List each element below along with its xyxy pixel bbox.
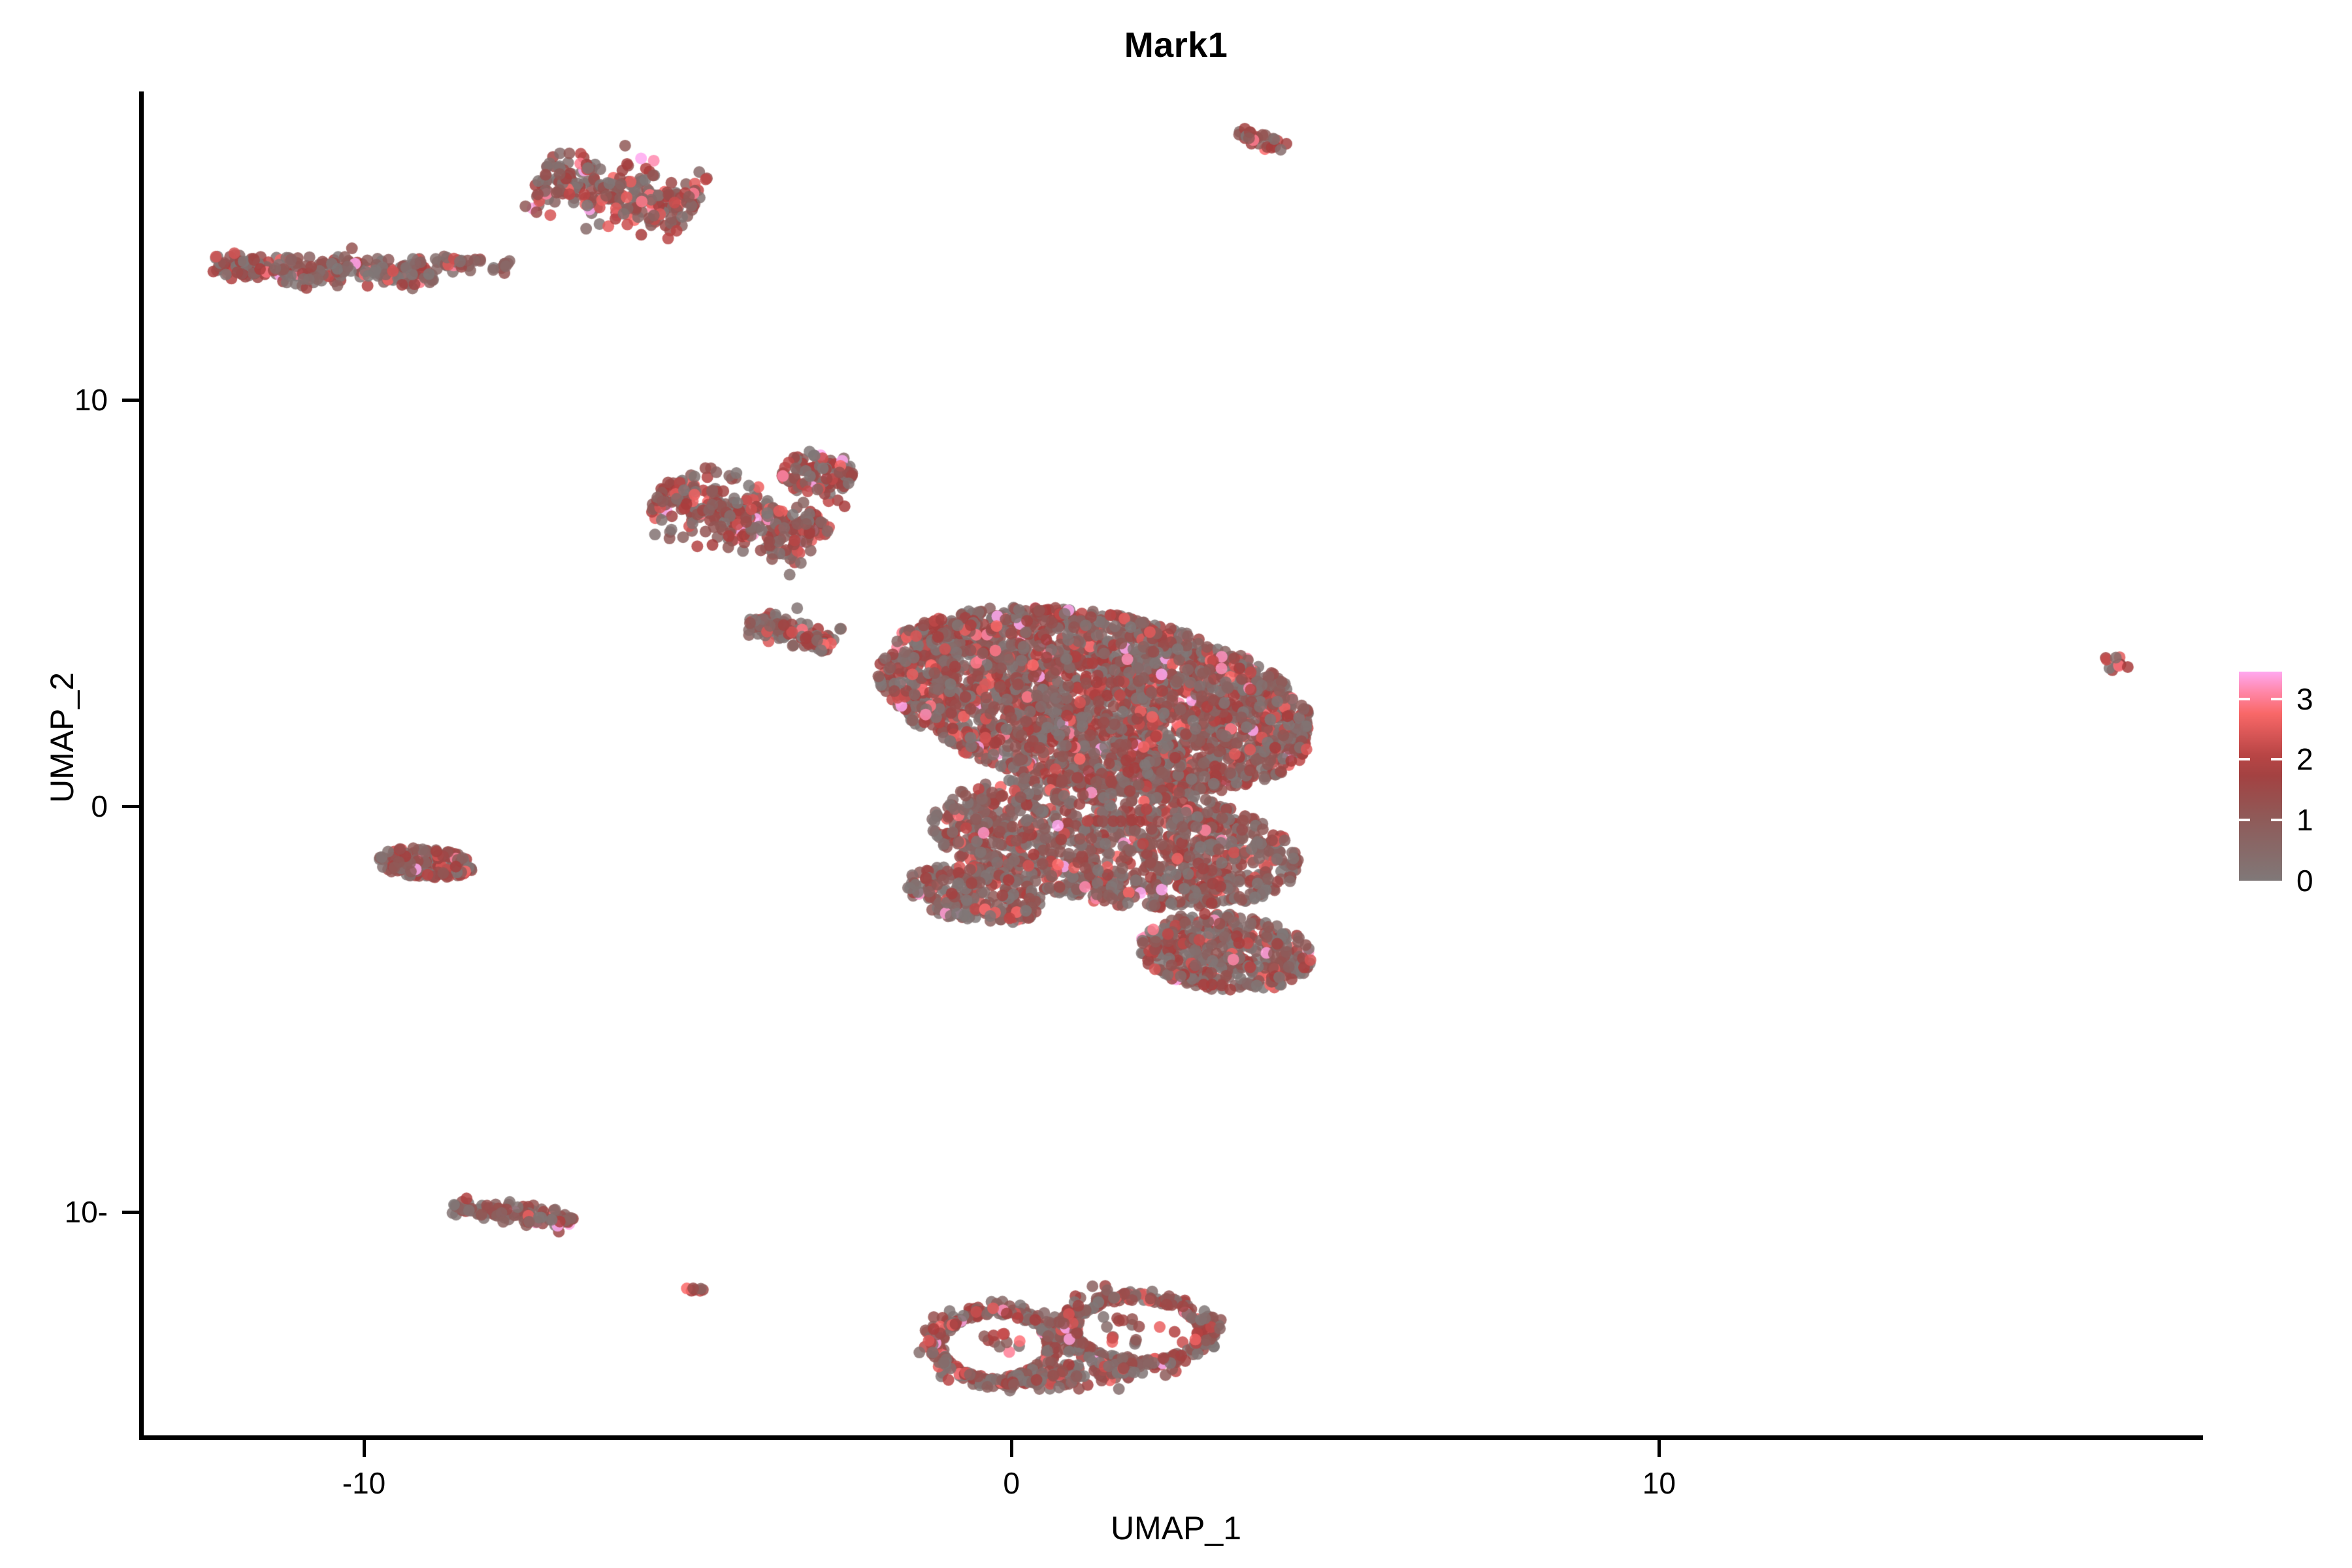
y-tick-mark [122, 1211, 139, 1214]
legend-tick-label: 3 [2296, 681, 2313, 717]
x-axis-label: UMAP_1 [0, 1509, 2352, 1547]
legend-tick-mark [2239, 758, 2250, 760]
x-tick-label: 0 [1003, 1465, 1020, 1501]
legend-tick-mark [2239, 698, 2250, 700]
x-tick-label: 10 [1642, 1465, 1676, 1501]
x-tick-label: -10 [342, 1465, 385, 1501]
chart-root: Mark1 -10010 100-10 UMAP_1 UMAP_2 3210 [0, 0, 2352, 1568]
y-axis-label: UMAP_2 [43, 542, 81, 934]
legend-tick-mark [2271, 698, 2282, 700]
y-tick-mark [122, 399, 139, 402]
x-tick-mark [1658, 1440, 1661, 1457]
legend-tick-label: 1 [2296, 802, 2313, 838]
legend-tick-mark [2271, 819, 2282, 821]
x-tick-mark [1010, 1440, 1013, 1457]
scatter-canvas [144, 91, 2203, 1439]
x-axis-line [139, 1435, 2203, 1440]
color-legend: 3210 [2239, 672, 2282, 881]
plot-panel [144, 91, 2203, 1439]
page-title: Mark1 [0, 25, 2352, 65]
y-tick-mark [122, 805, 139, 808]
legend-tick-mark [2239, 819, 2250, 821]
legend-tick-mark [2271, 758, 2282, 760]
legend-gradient-bar [2239, 672, 2282, 881]
x-tick-mark [363, 1440, 366, 1457]
legend-tick-label: 0 [2296, 863, 2313, 898]
legend-tick-label: 2 [2296, 742, 2313, 777]
y-axis-line [139, 91, 144, 1439]
